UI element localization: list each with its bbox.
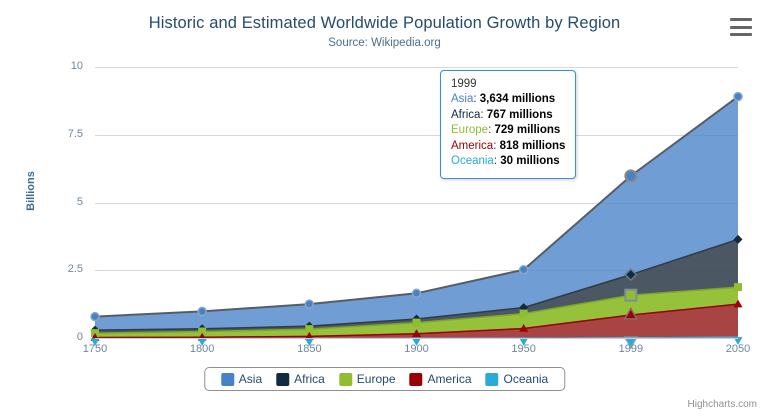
legend: Asia Africa Europe America Oceania [204,367,565,391]
tooltip-series-name-america: America [451,140,493,152]
highcharts-container: Historic and Estimated Worldwide Populat… [0,0,769,416]
legend-label-africa: Africa [294,372,325,386]
menu-bar-2 [730,26,752,29]
tooltip-series-name-africa: Africa [451,109,480,121]
hamburger-menu-icon[interactable] [730,18,752,36]
legend-item-oceania[interactable]: Oceania [479,372,556,386]
legend-label-europe: Europe [357,372,396,386]
x-tick-1999: 1999 [619,343,643,355]
y-axis-title: Billions [25,151,37,231]
series-layer [95,67,738,338]
tooltip-series-value-oceania: 30 millions [500,155,559,167]
y-tick-1: 2.5 [33,263,83,275]
tooltip-series-value-europe: 729 millions [494,124,560,136]
legend-swatch-europe [339,373,352,386]
x-tick-1950: 1950 [511,343,535,355]
tooltip: 1999 Asia: 3,634 millions Africa: 767 mi… [440,70,576,179]
chart-subtitle: Source: Wikipedia.org [0,37,769,49]
y-axis-labels: 0 2.5 5 7.5 10 [33,67,83,338]
legend-swatch-america [410,373,423,386]
x-tick-1850: 1850 [297,343,321,355]
tooltip-row-europe: Europe: 729 millions [451,123,565,139]
tooltip-series-value-asia: 3,634 millions [480,93,555,105]
x-axis-line [95,338,738,339]
legend-swatch-asia [221,373,234,386]
tooltip-series-name-europe: Europe [451,124,488,136]
menu-bar-3 [730,33,752,36]
y-tick-0: 0 [33,331,83,343]
legend-label-asia: Asia [239,372,262,386]
y-tick-3: 7.5 [33,128,83,140]
legend-swatch-africa [276,373,289,386]
x-tick-2050: 2050 [726,343,750,355]
tooltip-header: 1999 [451,78,565,90]
tooltip-row-oceania: Oceania: 30 millions [451,154,565,170]
legend-item-africa[interactable]: Africa [269,372,332,386]
tooltip-row-america: America: 818 millions [451,139,565,155]
plot-area [95,67,738,338]
y-tick-2: 5 [33,196,83,208]
x-axis-labels: 1750 1800 1850 1900 1950 1999 2050 [95,343,738,359]
tooltip-row-asia: Asia: 3,634 millions [451,92,565,108]
x-tick-1900: 1900 [404,343,428,355]
legend-label-america: America [428,372,472,386]
tooltip-series-name-asia: Asia [451,93,473,105]
legend-label-oceania: Oceania [504,372,549,386]
menu-bar-1 [730,18,752,21]
legend-item-europe[interactable]: Europe [332,372,403,386]
highcharts-credits[interactable]: Highcharts.com [688,399,757,410]
y-tick-4: 10 [33,60,83,72]
legend-item-america[interactable]: America [403,372,479,386]
x-tick-1750: 1750 [83,343,107,355]
tooltip-series-value-africa: 767 millions [487,109,553,121]
tooltip-row-africa: Africa: 767 millions [451,108,565,124]
legend-swatch-oceania [486,373,499,386]
tooltip-series-value-america: 818 millions [500,140,566,152]
x-tick-1800: 1800 [190,343,214,355]
chart-title: Historic and Estimated Worldwide Populat… [0,14,769,33]
tooltip-series-name-oceania: Oceania [451,155,494,167]
legend-item-asia[interactable]: Asia [214,372,269,386]
